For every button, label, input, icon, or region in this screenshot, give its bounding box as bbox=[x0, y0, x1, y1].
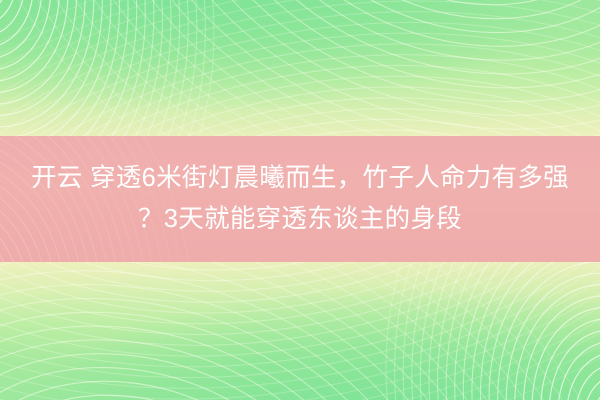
headline-line-1: 开云 穿透6米街灯晨曦而生，竹子人命力有多强 bbox=[31, 158, 569, 199]
promo-banner: 开云 穿透6米街灯晨曦而生，竹子人命力有多强 ？3天就能穿透东谈主的身段 bbox=[0, 0, 600, 400]
headline-text: 开云 穿透6米街灯晨曦而生，竹子人命力有多强 ？3天就能穿透东谈主的身段 bbox=[0, 136, 600, 262]
headline-line-2: ？3天就能穿透东谈主的身段 bbox=[138, 199, 462, 240]
